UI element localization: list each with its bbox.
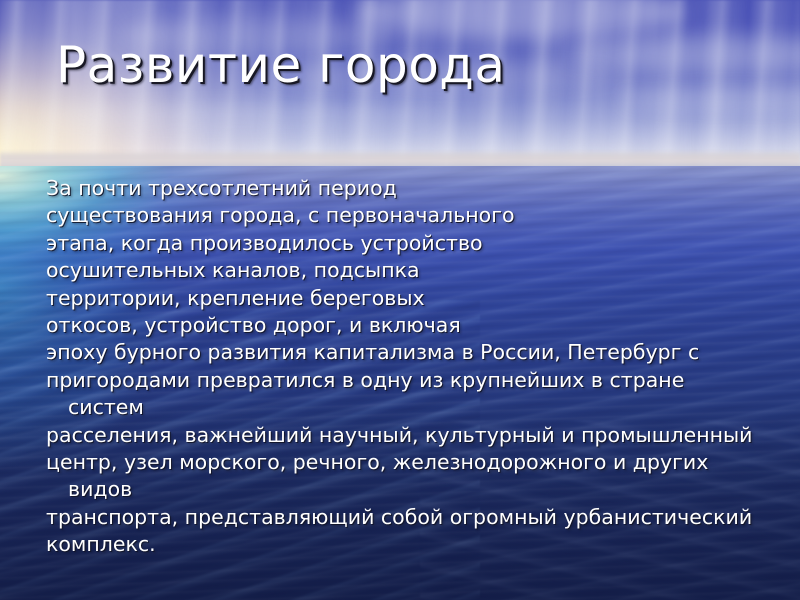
body-text-line: территории, крепление береговых — [46, 285, 756, 312]
body-text-line: транспорта, представляющий собой огромны… — [46, 504, 756, 531]
body-text-line: осушительных каналов, подсыпка — [46, 257, 756, 284]
body-text-line: откосов, устройство дорог, и включая — [46, 312, 756, 339]
body-text-line: видов — [46, 476, 756, 503]
body-text-line: этапа, когда производилось устройство — [46, 230, 756, 257]
presentation-slide: Развитие города За почти трехсотлетний п… — [0, 0, 800, 600]
body-text-line: центр, узел морского, речного, железнодо… — [46, 449, 756, 476]
body-text-line: расселения, важнейший научный, культурны… — [46, 422, 756, 449]
body-text-line: эпоху бурного развития капитализма в Рос… — [46, 339, 756, 366]
body-text-line: За почти трехсотлетний период — [46, 175, 756, 202]
slide-body-text: За почти трехсотлетний периодсуществован… — [46, 175, 756, 559]
body-text-line: пригородами превратился в одну из крупне… — [46, 367, 756, 394]
body-text-line: существования города, с первоначального — [46, 202, 756, 229]
slide-content: Развитие города За почти трехсотлетний п… — [0, 0, 800, 600]
body-text-line: комплекс. — [46, 531, 756, 558]
slide-title: Развитие города — [56, 36, 506, 94]
body-text-line: систем — [46, 394, 756, 421]
